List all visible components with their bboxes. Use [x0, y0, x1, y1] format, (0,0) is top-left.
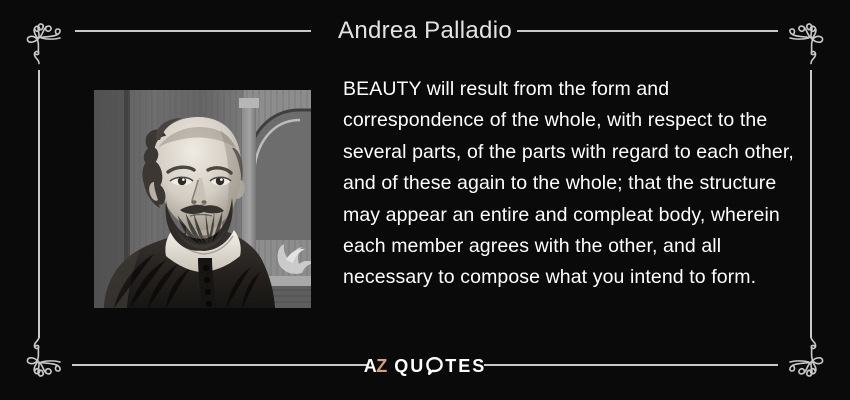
author-name: Andrea Palladio — [0, 14, 850, 48]
logo-letter-a: A — [364, 356, 377, 376]
logo-letter-z: Z — [376, 356, 387, 376]
logo-word-tes: TES — [445, 356, 486, 376]
logo-word-qu: QU — [394, 356, 425, 376]
frame-line-left — [38, 70, 40, 338]
speech-bubble-icon — [426, 357, 443, 375]
author-portrait-image — [94, 90, 311, 308]
az-quotes-logo[interactable]: AZQU TES — [0, 355, 850, 377]
quote-card: Andrea Palladio — [0, 0, 850, 400]
quote-text: BEAUTY will result from the form and cor… — [343, 74, 813, 294]
